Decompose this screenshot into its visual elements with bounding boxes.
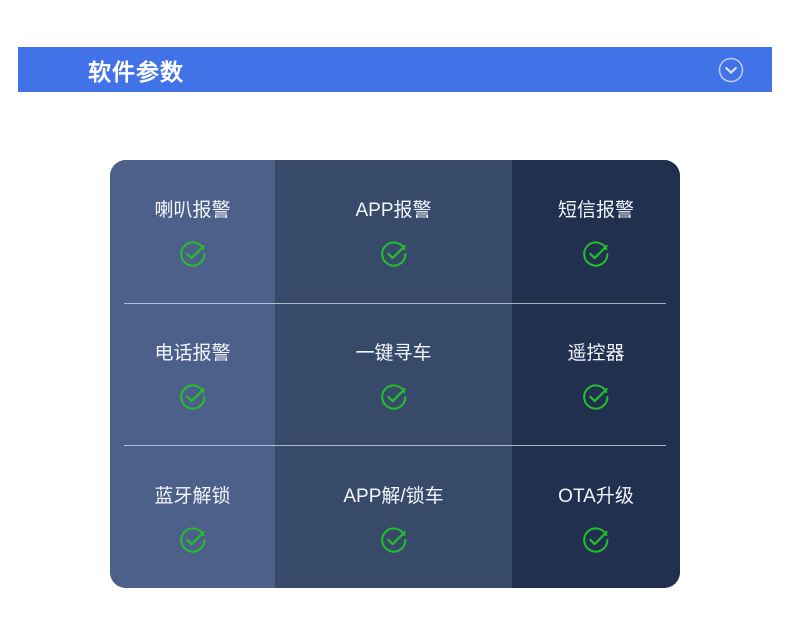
check-circle-icon (582, 383, 610, 411)
feature-cell: 蓝牙解锁 (110, 445, 275, 588)
check-circle-icon (179, 383, 207, 411)
feature-cell: APP报警 (275, 160, 512, 303)
feature-row: 喇叭报警 APP报警 短信报警 (110, 160, 680, 303)
check-circle-icon (380, 526, 408, 554)
feature-cell: 一键寻车 (275, 303, 512, 446)
feature-cell: 喇叭报警 (110, 160, 275, 303)
check-circle-icon (380, 383, 408, 411)
feature-row: 电话报警 一键寻车 遥控器 (110, 303, 680, 446)
feature-label: 电话报警 (154, 343, 230, 366)
feature-label: 遥控器 (567, 343, 624, 366)
check-circle-icon (179, 526, 207, 554)
feature-row: 蓝牙解锁 APP解/锁车 OTA升级 (110, 445, 680, 588)
feature-cell: 短信报警 (512, 160, 680, 303)
check-circle-icon (582, 240, 610, 268)
chevron-down-icon[interactable] (718, 57, 744, 83)
feature-cell: 遥控器 (512, 303, 680, 446)
section-header: 软件参数 (18, 47, 772, 92)
feature-label: 一键寻车 (355, 343, 431, 366)
page-title: 软件参数 (88, 53, 184, 87)
feature-label: 短信报警 (558, 200, 634, 223)
feature-label: OTA升级 (558, 486, 634, 509)
feature-grid: 喇叭报警 APP报警 短信报警 (110, 160, 680, 588)
check-circle-icon (582, 526, 610, 554)
feature-cell: APP解/锁车 (275, 445, 512, 588)
feature-label: APP报警 (355, 200, 431, 223)
software-parameters-card: 喇叭报警 APP报警 短信报警 (110, 160, 680, 588)
feature-label: 蓝牙解锁 (154, 486, 230, 509)
check-circle-icon (179, 240, 207, 268)
feature-cell: OTA升级 (512, 445, 680, 588)
feature-label: 喇叭报警 (154, 200, 230, 223)
feature-label: APP解/锁车 (343, 486, 443, 509)
check-circle-icon (380, 240, 408, 268)
feature-cell: 电话报警 (110, 303, 275, 446)
